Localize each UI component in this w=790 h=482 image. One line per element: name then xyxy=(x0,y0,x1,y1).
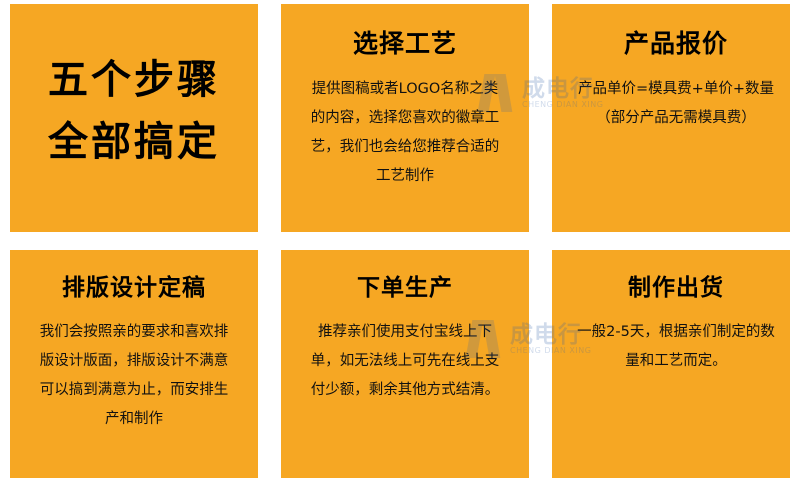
card-title-order: 下单生产 xyxy=(299,274,511,304)
hero-line-2: 全部搞定 xyxy=(48,111,220,173)
card-title-craft: 选择工艺 xyxy=(299,28,511,61)
card-step-craft: 选择工艺 提供图稿或者LOGO名称之类的内容，选择您喜欢的徽章工艺，我们也会给您… xyxy=(281,4,529,232)
card-body-ship: 一般2-5天，根据亲们制定的数量和工艺而定。 xyxy=(570,318,782,376)
card-title-layout: 排版设计定稿 xyxy=(28,274,240,304)
card-body-quote: 产品单价=模具费+单价+数量（部分产品无需模具费） xyxy=(570,75,782,133)
card-title-ship: 制作出货 xyxy=(570,274,782,304)
card-body-craft: 提供图稿或者LOGO名称之类的内容，选择您喜欢的徽章工艺，我们也会给您推荐合适的… xyxy=(299,75,511,191)
steps-grid: 五个步骤 全部搞定 选择工艺 提供图稿或者LOGO名称之类的内容，选择您喜欢的徽… xyxy=(0,0,790,482)
card-step-intro: 五个步骤 全部搞定 xyxy=(10,4,258,232)
card-step-quote: 产品报价 产品单价=模具费+单价+数量（部分产品无需模具费） xyxy=(552,4,790,232)
card-step-layout: 排版设计定稿 我们会按照亲的要求和喜欢排版设计版面，排版设计不满意可以搞到满意为… xyxy=(10,250,258,478)
card-title-quote: 产品报价 xyxy=(570,28,782,61)
card-body-layout: 我们会按照亲的要求和喜欢排版设计版面，排版设计不满意可以搞到满意为止，而安排生产… xyxy=(28,318,240,434)
hero-line-1: 五个步骤 xyxy=(48,49,220,111)
card-step-ship: 制作出货 一般2-5天，根据亲们制定的数量和工艺而定。 xyxy=(552,250,790,478)
card-step-order: 下单生产 推荐亲们使用支付宝线上下单，如无法线上可先在线上支付少额，剩余其他方式… xyxy=(281,250,529,478)
card-body-order: 推荐亲们使用支付宝线上下单，如无法线上可先在线上支付少额，剩余其他方式结清。 xyxy=(299,318,511,405)
